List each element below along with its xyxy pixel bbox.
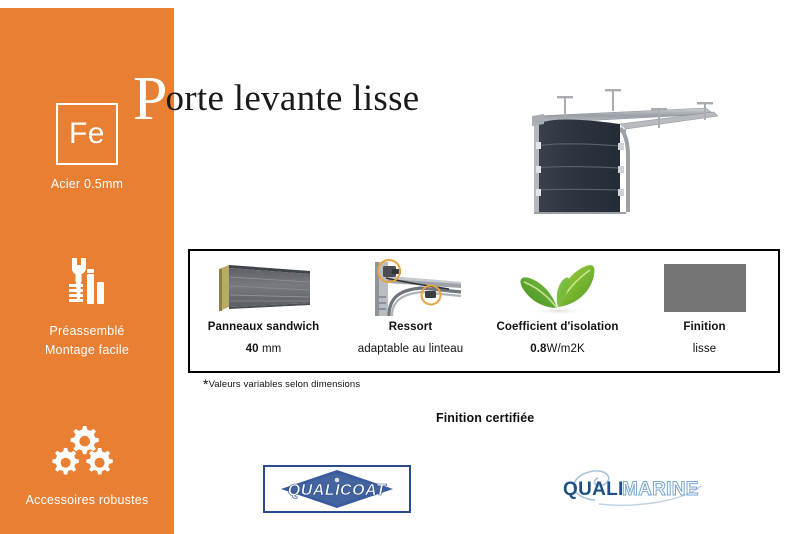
footnote: *Valeurs variables selon dimensions — [203, 379, 360, 395]
sidebar-label-acier: Acier 0.5mm — [0, 175, 174, 194]
finish-colour-swatch — [664, 264, 746, 312]
footnote-text: Valeurs variables selon dimensions — [209, 379, 361, 390]
features-panel: Panneaux sandwich 40 mm — [188, 249, 780, 373]
slide-canvas: Fe Acier 0.5mm — [0, 0, 800, 534]
gears-icon — [0, 423, 174, 481]
fe-element-box-icon: Fe — [56, 103, 118, 165]
feature-value-ressort: adaptable au linteau — [358, 343, 464, 355]
page-title-initial: P — [133, 65, 165, 133]
feature-title-finition: Finition — [683, 321, 725, 333]
page-title: Porte levante lisse — [133, 55, 420, 126]
sidebar-item-preassemble: Préassemblé Montage facile — [0, 256, 174, 360]
sidebar-item-accessoires: Accessoires robustes — [0, 423, 174, 510]
feature-value-panneaux: 40 mm — [246, 343, 282, 355]
feature-title-ressort: Ressort — [389, 321, 433, 333]
svg-text:QUALICOAT: QUALICOAT — [288, 482, 387, 499]
feature-value-panneaux-unit: mm — [259, 343, 282, 355]
sectional-garage-door-photo — [508, 86, 744, 226]
svg-text:MARINE: MARINE — [622, 479, 699, 500]
sidebar-label-accessoires: Accessoires robustes — [0, 491, 174, 510]
spring-mechanism-image — [359, 257, 463, 319]
feature-value-coefficient-number: 0.8 — [530, 343, 546, 355]
feature-value-panneaux-number: 40 — [246, 343, 259, 355]
feature-coefficient-isolation: Coefficient d'isolation 0.8W/m2K — [484, 251, 631, 371]
sandwich-panel-image — [211, 257, 317, 319]
feature-title-panneaux: Panneaux sandwich — [208, 321, 320, 333]
certification-heading: Finition certifiée — [436, 411, 534, 425]
feature-ressort: Ressort adaptable au linteau — [337, 251, 484, 371]
qualimarine-logo: QUALI MARINE — [549, 464, 719, 514]
footnote-asterisk: * — [203, 376, 209, 392]
wrench-assembly-icon — [0, 256, 174, 312]
feature-finition: Finition lisse — [631, 251, 778, 371]
feature-value-finition: lisse — [693, 343, 717, 355]
sidebar-label-montage-facile: Montage facile — [0, 341, 174, 360]
feature-value-coefficient: 0.8W/m2K — [530, 343, 585, 355]
feature-panneaux-sandwich: Panneaux sandwich 40 mm — [190, 251, 337, 371]
svg-text:QUALI: QUALI — [563, 479, 624, 500]
page-title-rest: orte levante lisse — [165, 78, 419, 119]
green-leaves-icon — [512, 257, 604, 319]
sidebar-label-preassemble: Préassemblé — [0, 322, 174, 341]
feature-value-coefficient-unit: W/m2K — [547, 343, 585, 355]
feature-title-coefficient: Coefficient d'isolation — [497, 321, 619, 333]
fe-symbol-label: Fe — [69, 119, 105, 149]
finish-colour-swatch-wrapper — [664, 257, 746, 319]
qualicoat-logo: QUALICOAT — [263, 465, 411, 513]
